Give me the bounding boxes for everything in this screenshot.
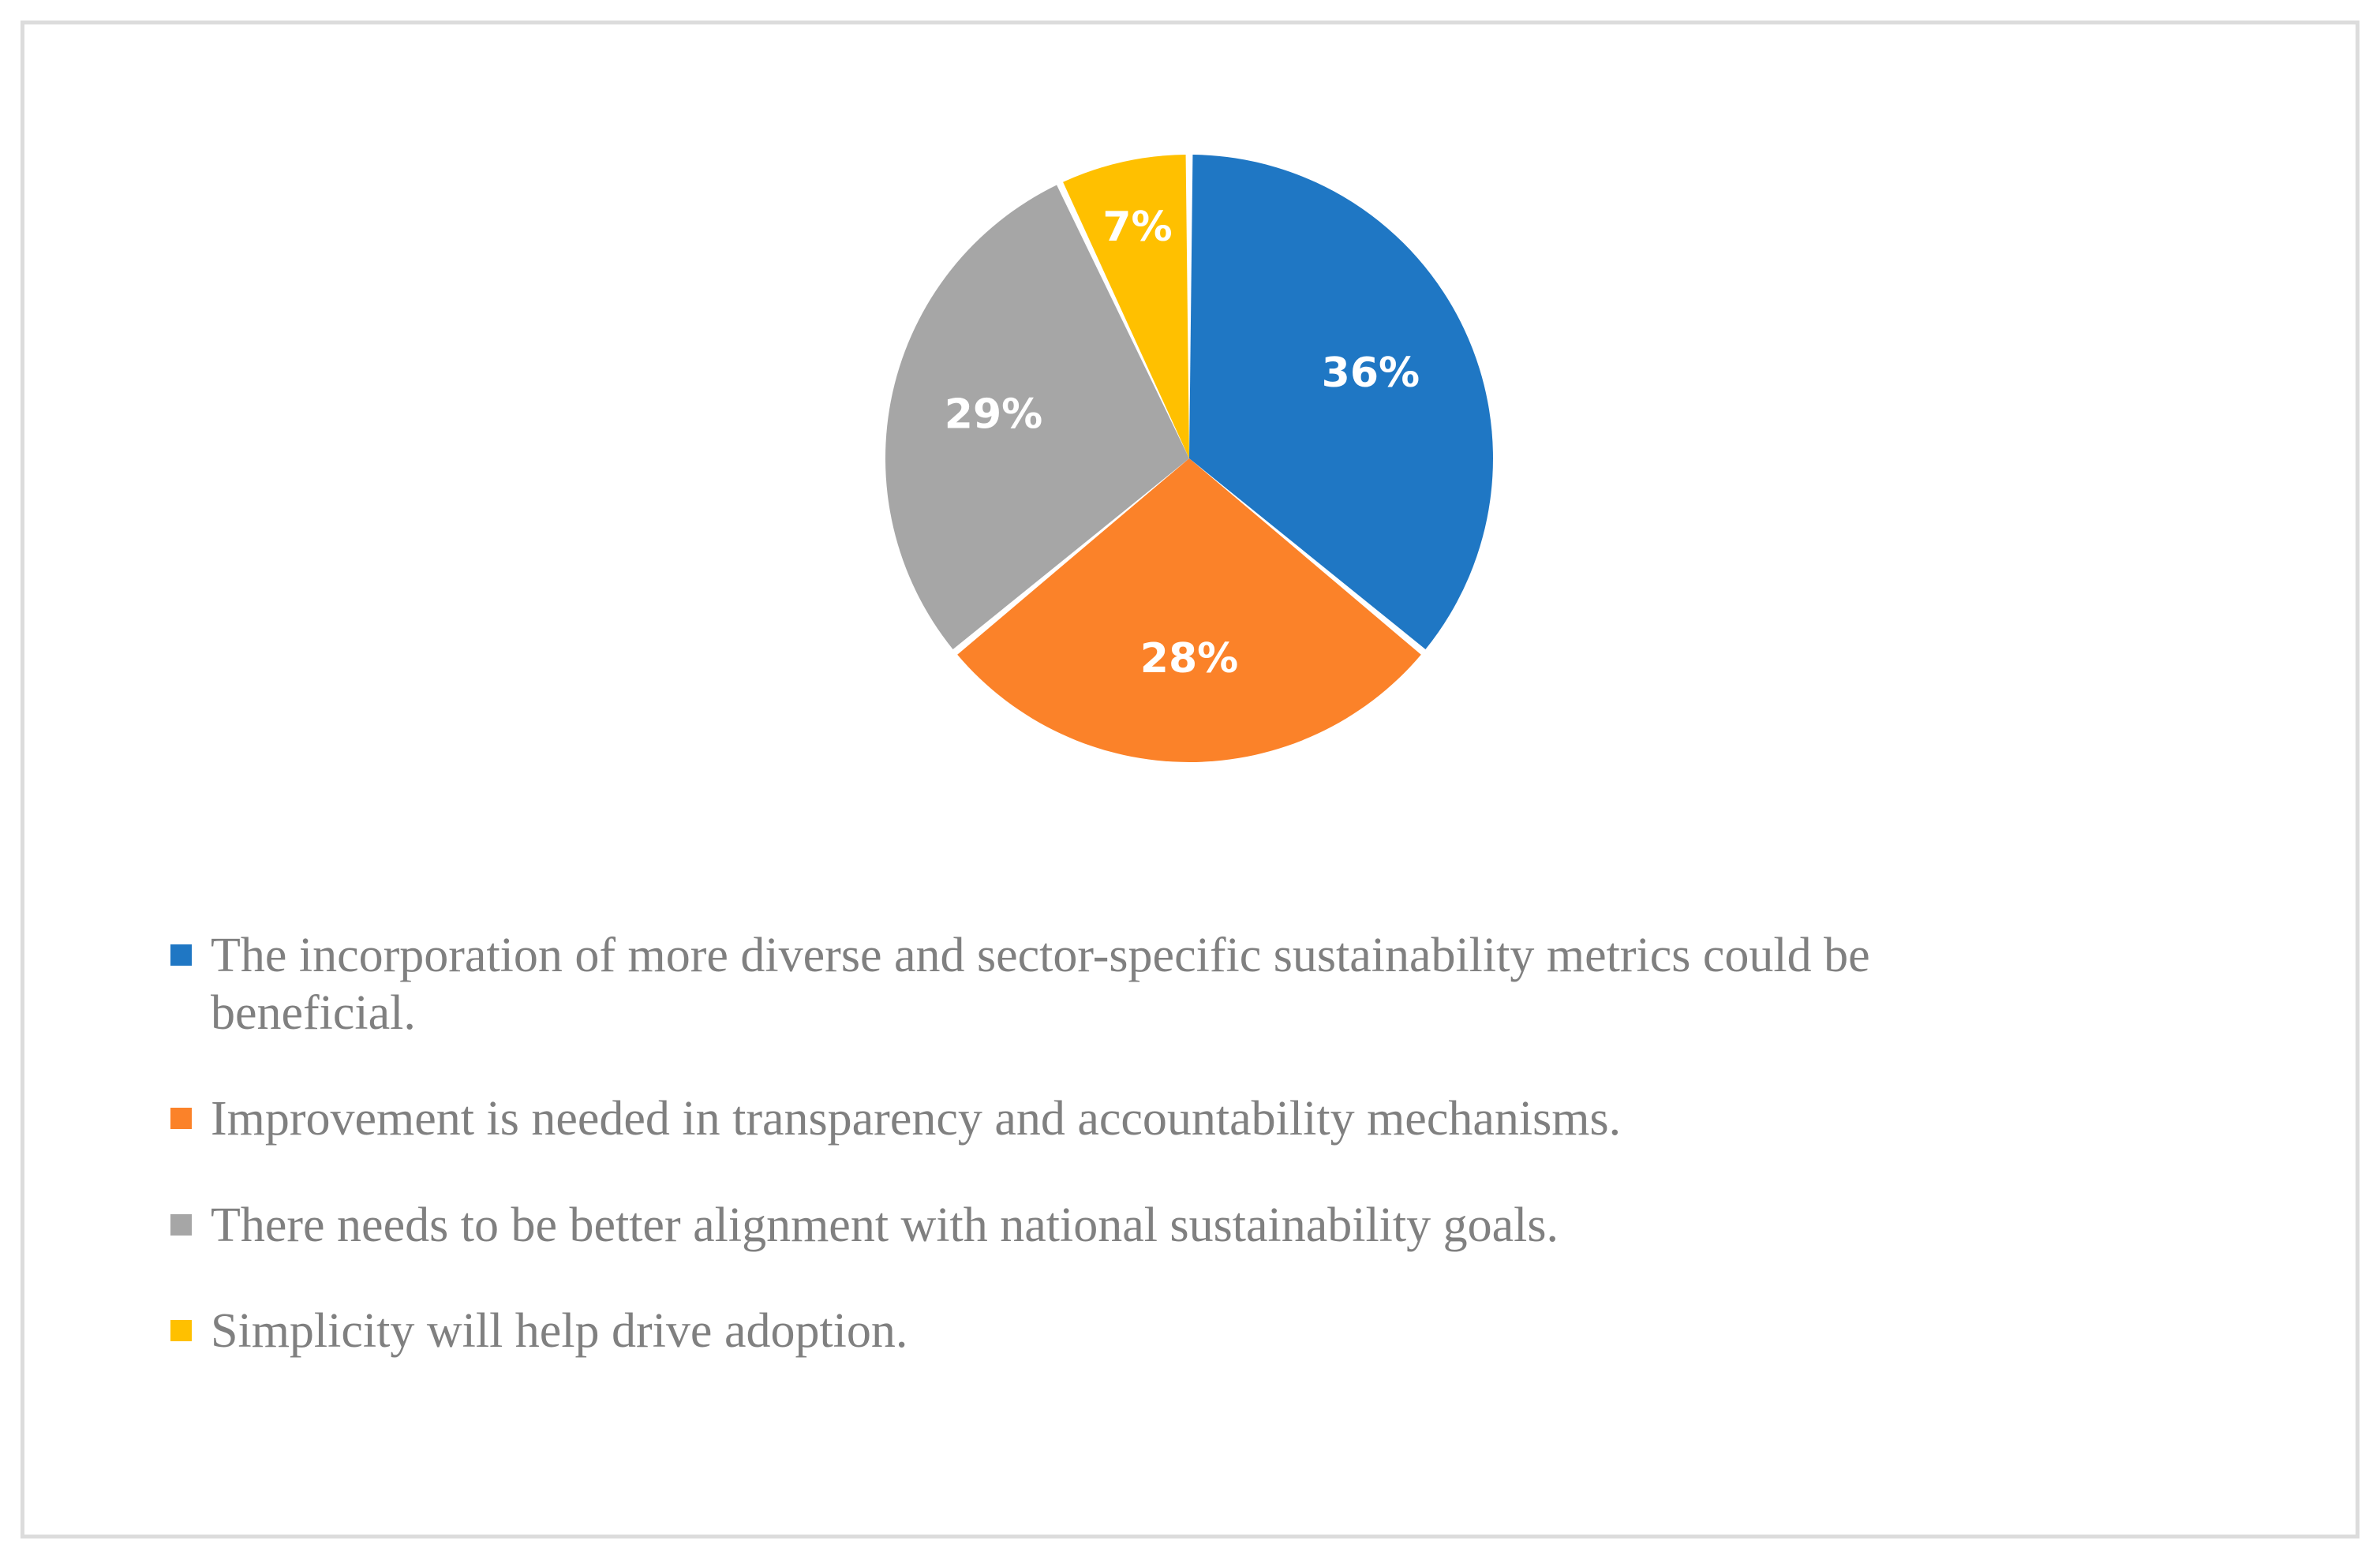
legend-item-2[interactable]: There needs to be better alignment with … <box>170 1197 2301 1254</box>
legend-label-1: Improvement is needed in transparency an… <box>211 1090 1621 1148</box>
slice-orange-data-label: 28% <box>1140 635 1238 682</box>
legend-item-3[interactable]: Simplicity will help drive adoption. <box>170 1303 2301 1360</box>
pie-chart: 36%28%29%7% <box>882 151 1496 765</box>
legend-label-0: The incorporation of more diverse and se… <box>211 927 2018 1041</box>
legend-swatch-icon-3 <box>170 1320 192 1341</box>
legend-label-3: Simplicity will help drive adoption. <box>211 1303 907 1360</box>
legend-item-0[interactable]: The incorporation of more diverse and se… <box>170 927 2301 1041</box>
legend-swatch-icon-1 <box>170 1108 192 1129</box>
slice-blue-data-label: 36% <box>1322 350 1420 397</box>
legend-item-1[interactable]: Improvement is needed in transparency an… <box>170 1090 2301 1148</box>
slice-yellow-data-label: 7% <box>1102 204 1172 251</box>
legend-label-2: There needs to be better alignment with … <box>211 1197 1559 1254</box>
chart-frame: 36%28%29%7% The incorporation of more di… <box>0 0 2380 1559</box>
legend-swatch-icon-2 <box>170 1214 192 1236</box>
chart-legend: The incorporation of more diverse and se… <box>170 927 2301 1409</box>
legend-swatch-icon-0 <box>170 944 192 966</box>
pie-svg: 36%28%29%7% <box>882 151 1496 765</box>
slice-gray-data-label: 29% <box>945 391 1042 439</box>
